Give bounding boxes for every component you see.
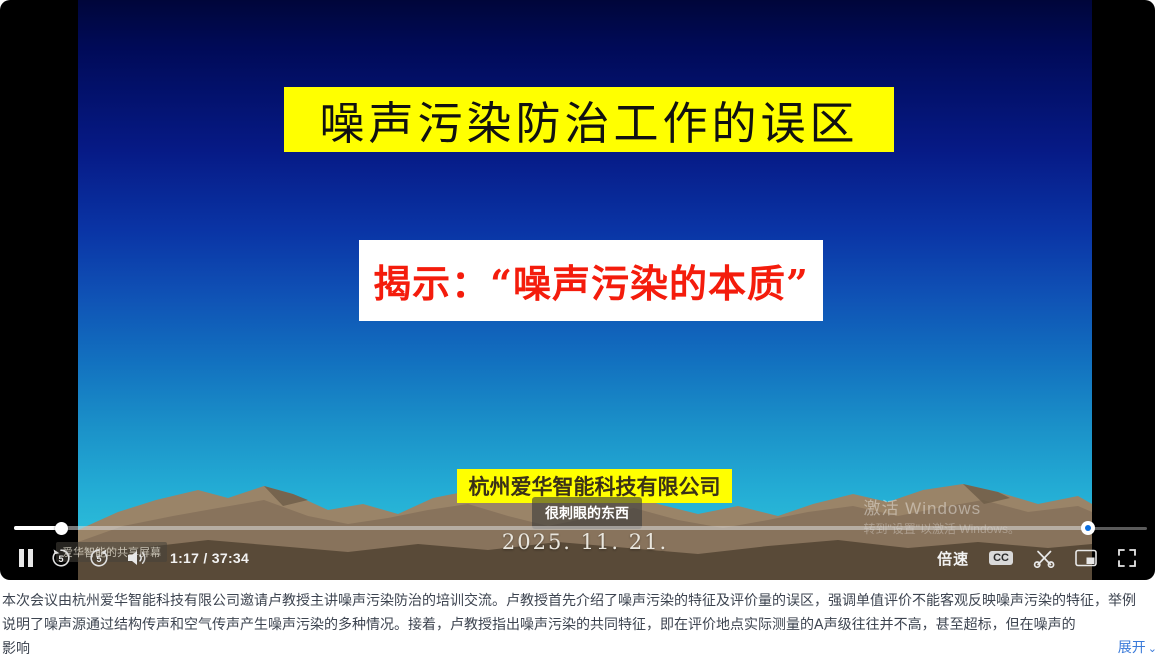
expand-description-button[interactable]: 展开⌄ — [1104, 636, 1157, 661]
time-display: 1:17 / 37:34 — [170, 550, 249, 566]
chevron-down-icon: ⌄ — [1148, 642, 1157, 655]
volume-button[interactable] — [126, 549, 148, 567]
fullscreen-icon — [1117, 548, 1137, 568]
playback-speed-button[interactable]: 倍速 — [937, 548, 969, 569]
slide-subtitle-box: 揭示：“噪声污染的本质” — [359, 240, 823, 321]
slide-subtitle: 揭示：“噪声污染的本质” — [373, 253, 809, 308]
fullscreen-button[interactable] — [1117, 548, 1137, 568]
progress-bar[interactable] — [14, 526, 1089, 530]
clip-button[interactable] — [1033, 548, 1055, 568]
player-controls[interactable]: 5 5 1:17 / 37:34 — [0, 536, 1155, 580]
picture-in-picture-button[interactable] — [1075, 549, 1097, 567]
slide-title: 噪声污染防治工作的误区 — [319, 87, 858, 152]
forward-5-button[interactable]: 5 — [88, 547, 110, 569]
controls-right-group: 倍速 CC — [937, 548, 1155, 569]
captions-button[interactable]: CC — [989, 551, 1013, 565]
slide-title-banner: 噪声污染防治工作的误区 — [284, 87, 894, 152]
description-line-2: 说明了噪声源通过结构传声和空气传声产生噪声污染的多种情况。接着，卢教授指出噪声污… — [2, 617, 1076, 657]
volume-track[interactable] — [1087, 527, 1147, 530]
pause-button[interactable] — [18, 549, 34, 567]
description-line-2-wrap: 说明了噪声源通过结构传声和空气传声产生噪声污染的多种情况。接着，卢教授指出噪声污… — [0, 613, 1161, 661]
progress-row[interactable] — [0, 520, 1155, 536]
expand-label: 展开 — [1118, 640, 1146, 656]
video-stage[interactable]: 噪声污染防治工作的误区 揭示：“噪声污染的本质” 杭州爱华智能科技有限公司 很刺… — [78, 0, 1092, 580]
volume-handle[interactable] — [1083, 523, 1093, 533]
scissors-icon — [1033, 548, 1055, 568]
progress-handle[interactable] — [55, 522, 68, 535]
forward-5-label: 5 — [88, 547, 110, 569]
video-description: 本次会议由杭州爱华智能科技有限公司邀请卢教授主讲噪声污染防治的培训交流。卢教授首… — [0, 589, 1161, 661]
volume-icon — [126, 549, 148, 567]
progress-fill — [14, 526, 61, 530]
picture-in-picture-icon — [1075, 549, 1097, 567]
video-page: 噪声污染防治工作的误区 揭示：“噪声污染的本质” 杭州爱华智能科技有限公司 很刺… — [0, 0, 1161, 637]
video-player[interactable]: 噪声污染防治工作的误区 揭示：“噪声污染的本质” 杭州爱华智能科技有限公司 很刺… — [0, 0, 1155, 580]
rewind-5-label: 5 — [50, 547, 72, 569]
description-line-1: 本次会议由杭州爱华智能科技有限公司邀请卢教授主讲噪声污染防治的培训交流。卢教授首… — [0, 589, 1161, 613]
controls-left-group: 5 5 1:17 / 37:34 — [0, 547, 249, 569]
rewind-5-button[interactable]: 5 — [50, 547, 72, 569]
volume-slider[interactable] — [1087, 524, 1147, 532]
